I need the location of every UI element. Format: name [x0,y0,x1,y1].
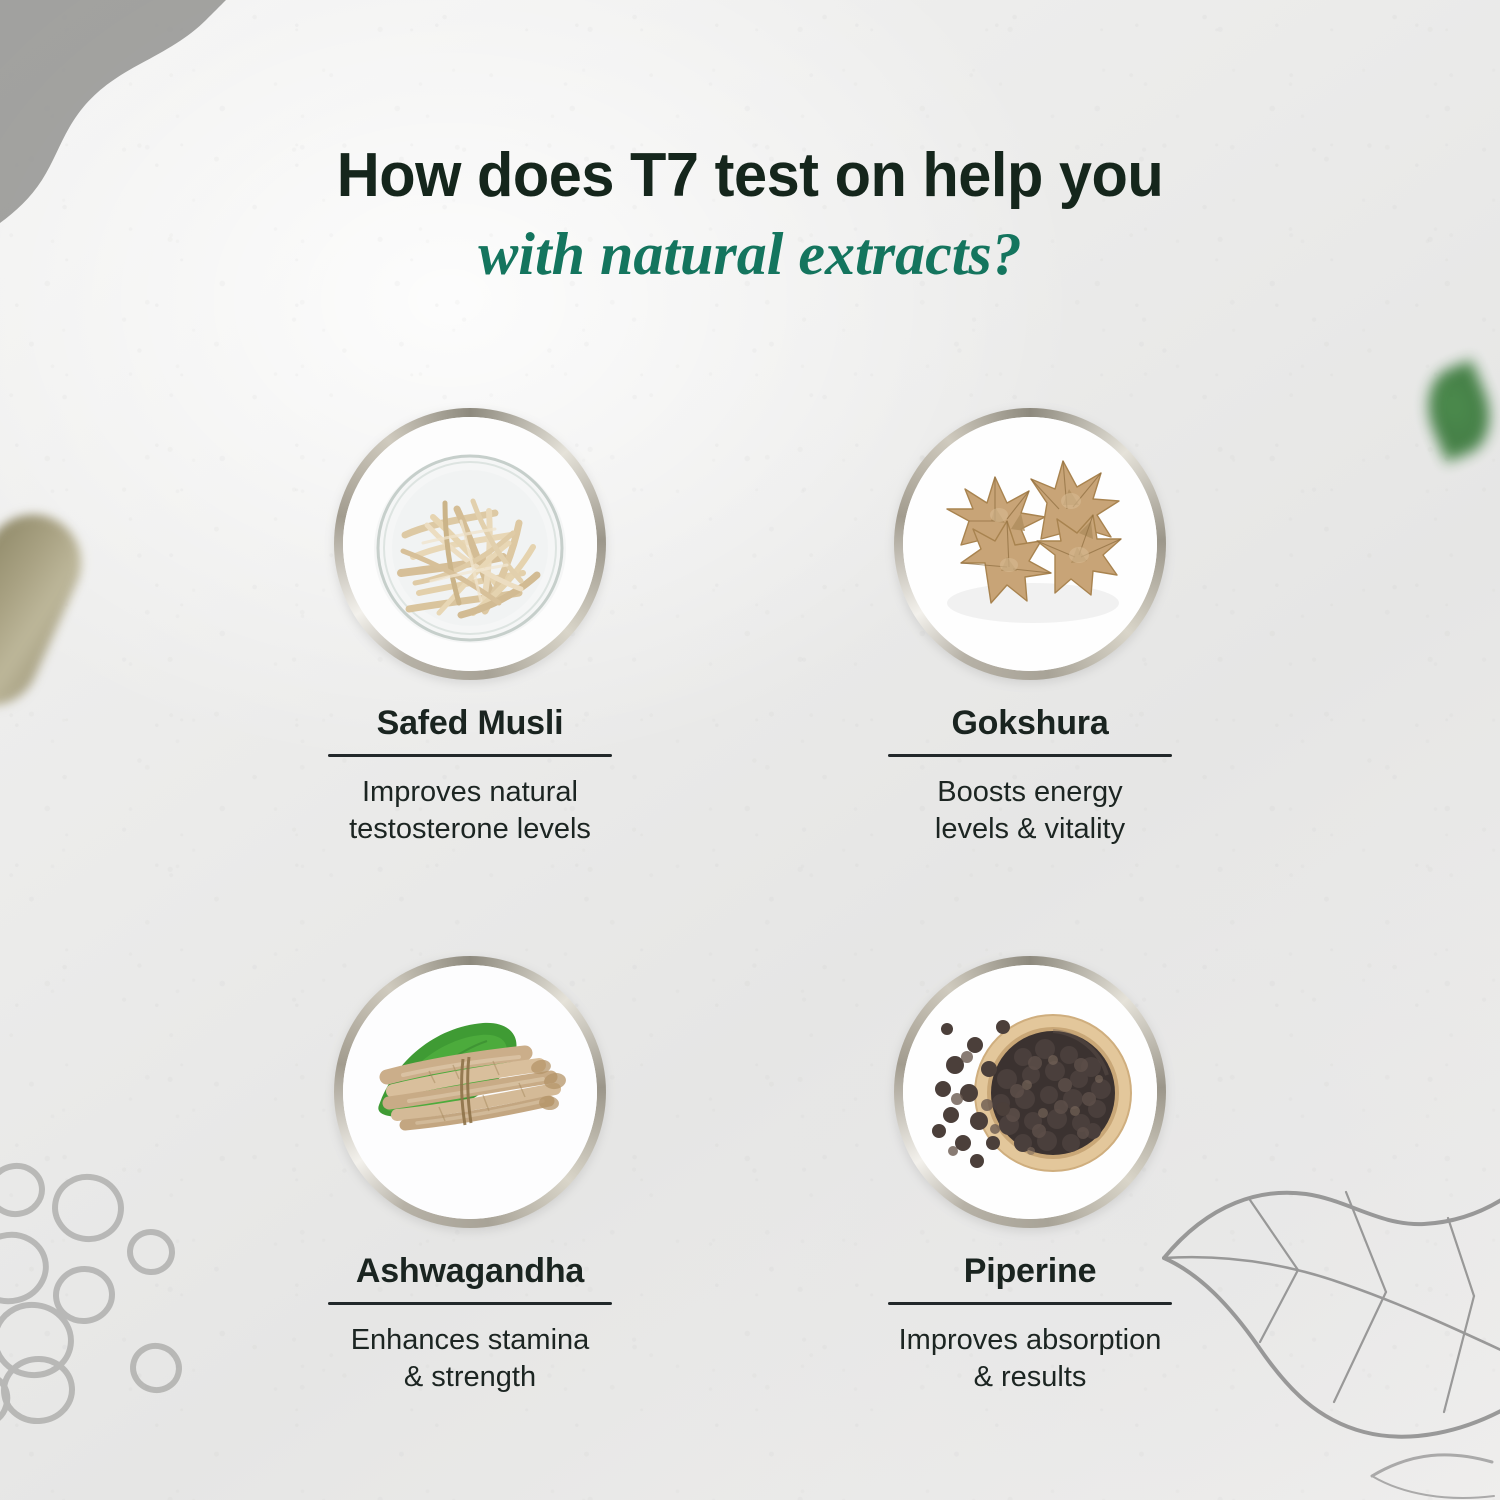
ingredient-description: Enhances stamina & strength [300,1322,640,1396]
gokshura-image [903,417,1157,671]
safed-musli-image [343,417,597,671]
ingredient-description: Improves natural testosterone levels [300,774,640,848]
poster-canvas: How does T7 test on help you with natura… [0,0,1500,1500]
ingredient-card-ashwagandha[interactable]: Ashwagandha Enhances stamina & strength [325,956,615,1396]
headline-line-2: with natural extracts? [0,219,1500,290]
ingredient-divider [328,1302,612,1305]
ashwagandha-image [343,965,597,1219]
ingredient-description: Improves absorption & results [860,1322,1200,1396]
ingredient-divider [328,754,612,757]
ingredients-row-2: Ashwagandha Enhances stamina & strength [0,956,1500,1396]
ingredient-divider [888,1302,1172,1305]
ingredient-card-safed-musli[interactable]: Safed Musli Improves natural testosteron… [325,408,615,848]
ingredient-name: Gokshura [951,706,1108,740]
piperine-image [903,965,1157,1219]
ingredient-card-piperine[interactable]: Piperine Improves absorption & results [885,956,1175,1396]
ingredient-name: Safed Musli [377,706,564,740]
ingredient-avatar-ring [334,408,606,680]
ingredient-description: Boosts energy levels & vitality [860,774,1200,848]
ingredients-row-1: Safed Musli Improves natural testosteron… [0,408,1500,848]
headline: How does T7 test on help you with natura… [0,143,1500,290]
ingredient-avatar-ring [894,956,1166,1228]
headline-line-1: How does T7 test on help you [30,143,1470,209]
ingredient-name: Ashwagandha [356,1254,584,1288]
ingredient-card-gokshura[interactable]: Gokshura Boosts energy levels & vitality [885,408,1175,848]
ingredient-avatar-ring [334,956,606,1228]
ingredient-avatar-ring [894,408,1166,680]
ingredient-divider [888,754,1172,757]
ingredient-name: Piperine [964,1254,1097,1288]
ingredients-grid: Safed Musli Improves natural testosteron… [0,408,1500,1396]
